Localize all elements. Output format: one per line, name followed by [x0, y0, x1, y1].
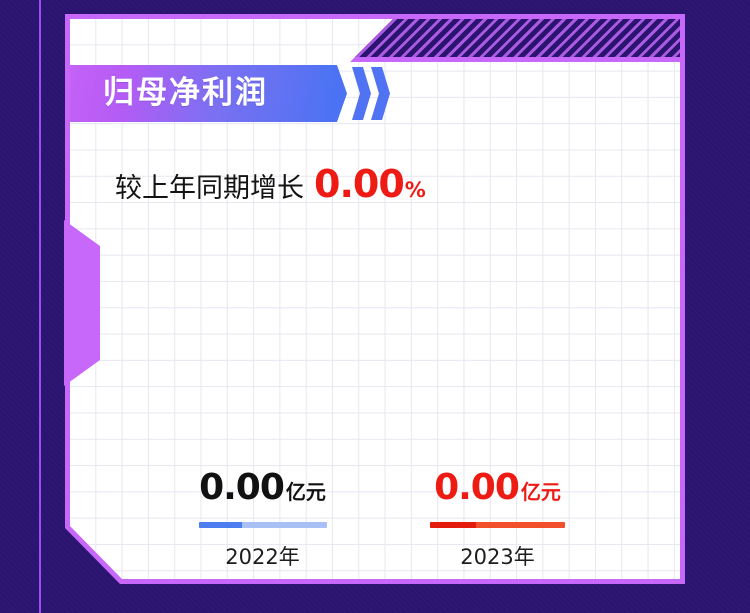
- striped-band-decoration: [355, 19, 680, 57]
- previous-underline-accent: [199, 522, 243, 528]
- previous-value: 0.00: [199, 467, 284, 508]
- grid-paper-surface: 归母净利润 较上年同期增长 0.00 % 0.00 亿元: [70, 19, 680, 579]
- growth-value: 0.00: [314, 162, 404, 206]
- comparison-row: 0.00 亿元 2022年 0.00 亿元: [145, 467, 615, 571]
- previous-unit: 亿元: [286, 476, 326, 505]
- growth-statement: 较上年同期增长 0.00 %: [115, 162, 426, 206]
- banner-title: 归母净利润: [103, 65, 268, 122]
- growth-label: 较上年同期增长: [115, 166, 304, 205]
- current-unit: 亿元: [521, 476, 561, 505]
- stat-card: 归母净利润 较上年同期增长 0.00 % 0.00 亿元: [65, 14, 685, 584]
- left-side-tab-decoration: [64, 220, 100, 386]
- previous-year-label: 2022年: [145, 541, 380, 571]
- comparison-column-current: 0.00 亿元 2023年: [380, 467, 615, 571]
- left-accent-line: [39, 0, 41, 613]
- chevron-right-icon-1: [352, 67, 371, 120]
- comparison-column-previous: 0.00 亿元 2022年: [145, 467, 380, 571]
- current-value: 0.00: [434, 467, 519, 508]
- current-underline-accent: [430, 522, 476, 528]
- banner-arrow-tip: [322, 65, 347, 122]
- previous-underline-bar: [199, 522, 327, 528]
- current-year-label: 2023年: [380, 541, 615, 571]
- growth-percent-sign: %: [405, 178, 426, 202]
- previous-value-group: 0.00 亿元: [145, 467, 380, 508]
- chevron-right-icon-2: [371, 67, 390, 120]
- current-value-group: 0.00 亿元: [380, 467, 615, 508]
- poster-background: 归母净利润 较上年同期增长 0.00 % 0.00 亿元: [0, 0, 750, 613]
- header-banner: 归母净利润: [70, 65, 390, 122]
- current-underline-bar: [430, 522, 565, 528]
